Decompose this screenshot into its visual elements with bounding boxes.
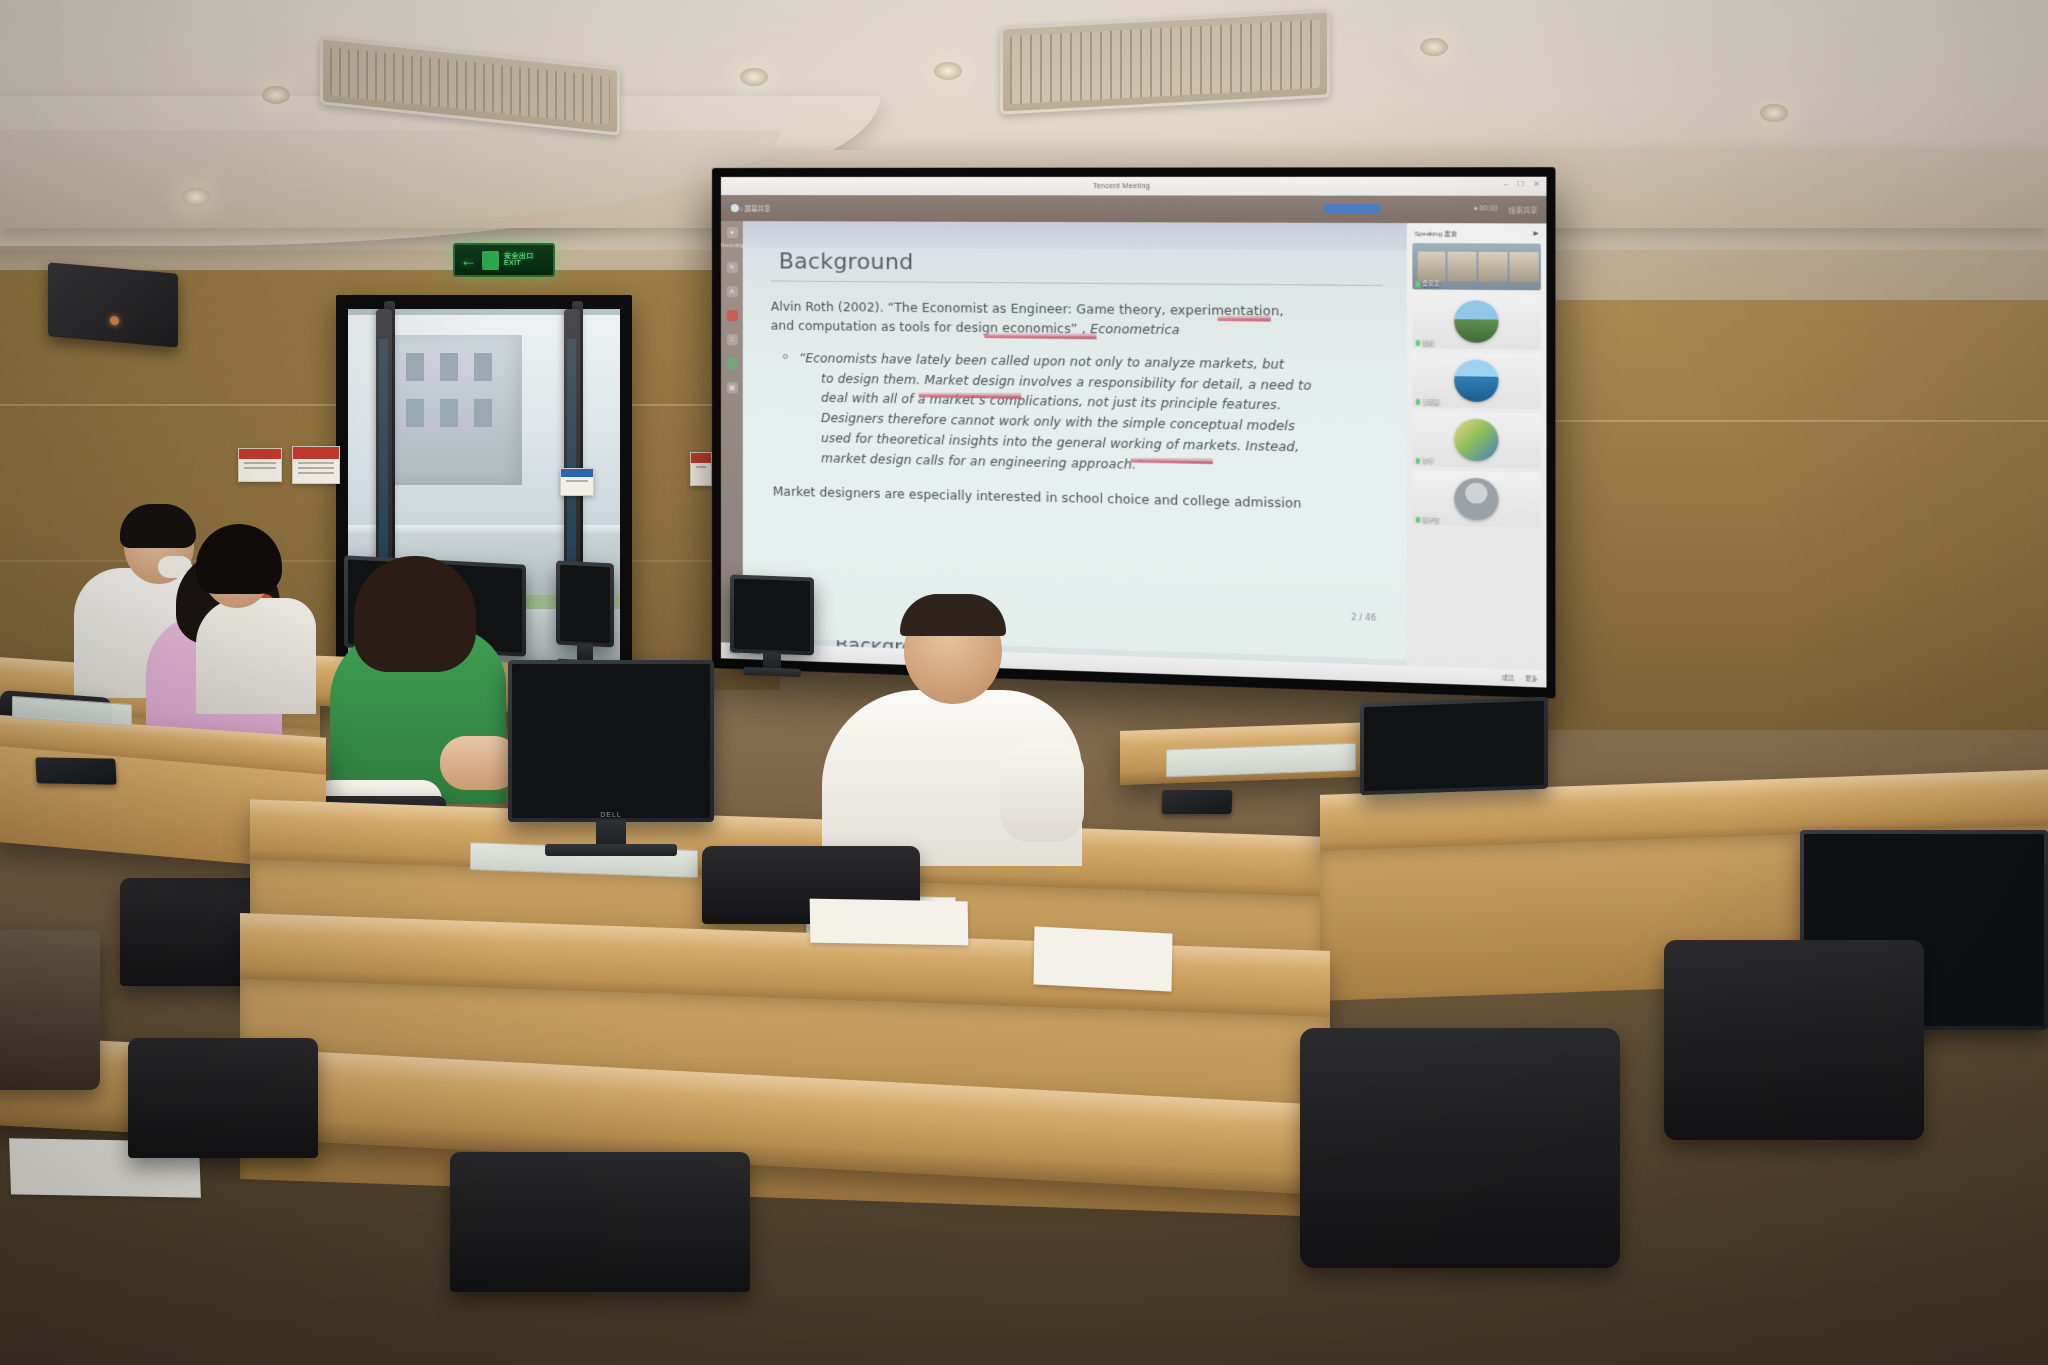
slide-title: Background	[779, 249, 1390, 278]
share-chip-label[interactable]: ⌂ 屏幕共享	[739, 203, 771, 213]
monitor-back-2	[556, 560, 614, 647]
avatar	[1454, 477, 1498, 520]
slide-top-strip	[743, 221, 1407, 250]
record-indicator-icon	[731, 204, 739, 212]
person-right-arm	[1000, 742, 1084, 842]
monitor-center-front: DELL	[508, 660, 714, 822]
highlighter-icon[interactable]: A	[726, 286, 737, 297]
participant-name: 李宇	[1416, 457, 1434, 465]
underline-design-economics	[984, 335, 1096, 339]
monitor-right-back	[1360, 697, 1548, 796]
mic-icon	[1416, 398, 1420, 404]
scene-root: ← 安全出口EXIT	[0, 0, 2048, 1365]
handout-paper-2	[1034, 926, 1173, 991]
downlight-1	[262, 86, 290, 104]
chair-front-right	[1300, 1028, 1620, 1268]
eraser-icon[interactable]	[726, 310, 737, 321]
exit-sign: ← 安全出口EXIT	[453, 243, 555, 277]
meeting-titlebar: Tencent Meeting – ☐ ✕	[721, 177, 1547, 196]
meeting-toolbar[interactable]: ⌂ 屏幕共享 ⏺ 00:00 结束共享	[721, 195, 1547, 223]
participant-name: 张帆	[1416, 339, 1434, 347]
wall-notice-1	[238, 448, 282, 482]
current-slide: Background Alvin Roth (2002). “The Econo…	[743, 221, 1407, 659]
maximize-icon[interactable]: ☐	[1517, 181, 1524, 188]
members-button[interactable]: 成员	[1502, 673, 1514, 682]
slide-icon[interactable]	[726, 358, 737, 369]
wall-wood-right	[1530, 300, 2048, 730]
downlight-4	[1420, 38, 1448, 56]
projection-screen: Tencent Meeting – ☐ ✕ ⌂ 屏幕共享 ⏺ 00:00 结束共…	[712, 167, 1555, 698]
title-divider	[771, 280, 1383, 286]
slide-bullet-block: “Economists have lately been called upon…	[799, 349, 1385, 481]
mic-icon	[1416, 280, 1420, 286]
participant-panel-header: Speaking 发言 ▶	[1412, 227, 1541, 239]
participant-tile[interactable]: 张帆	[1412, 294, 1541, 350]
pen-icon[interactable]: ✎	[726, 262, 737, 273]
wall-notice-4	[690, 452, 712, 486]
recording-label: Recording	[721, 243, 743, 249]
mic-icon	[1416, 339, 1420, 345]
exit-arrow-icon: ←	[460, 252, 477, 269]
participant-name: 王晓丽	[1416, 398, 1440, 406]
wall-speaker	[48, 262, 178, 347]
monitor-back-3	[730, 575, 814, 656]
chair-front-left	[128, 1038, 318, 1158]
smartphone-right	[1162, 790, 1233, 814]
monitor-brand-logo: DELL	[600, 812, 622, 819]
window-controls[interactable]: – ☐ ✕	[1504, 181, 1540, 188]
participant-name: 陈学生	[1416, 516, 1440, 524]
ac-vent-right	[1000, 9, 1330, 114]
slide-body: Alvin Roth (2002). “The Economist as Eng…	[771, 298, 1385, 516]
slide-page-number: 2 / 46	[1351, 613, 1376, 623]
outside-building	[394, 335, 522, 485]
downlight-5	[1760, 104, 1788, 122]
pointer-icon[interactable]: ●	[726, 227, 737, 238]
chair-right-edge	[1664, 940, 1924, 1140]
share-progress-bar	[1324, 204, 1381, 214]
downlight-3	[934, 62, 962, 80]
mic-icon	[1416, 516, 1420, 522]
slide-closing-line: Market designers are especially interest…	[773, 483, 1385, 516]
participant-tile[interactable]: 会议室	[1412, 243, 1541, 290]
slide-viewport[interactable]: Background Background Alvin Roth (2002).…	[743, 221, 1407, 683]
panel-collapse-icon[interactable]: ▶	[1533, 230, 1538, 237]
exit-sign-label: 安全出口EXIT	[504, 253, 534, 268]
downlight-6	[182, 188, 210, 206]
grid-icon[interactable]: ▦	[726, 382, 737, 393]
more-button[interactable]: 更多	[1525, 674, 1537, 683]
meeting-window: Tencent Meeting – ☐ ✕ ⌂ 屏幕共享 ⏺ 00:00 结束共…	[721, 177, 1547, 688]
avatar	[1454, 300, 1498, 343]
meeting-timer: ⏺ 00:00	[1474, 205, 1498, 214]
participant-panel[interactable]: Speaking 发言 ▶ 会议室	[1407, 223, 1547, 688]
participant-tile[interactable]: 王晓丽	[1412, 352, 1541, 409]
participant-name: 会议室	[1416, 280, 1440, 288]
mic-icon	[1416, 457, 1420, 463]
chair-front-mid	[450, 1152, 750, 1292]
close-icon[interactable]: ✕	[1533, 181, 1540, 188]
avatar	[1454, 418, 1498, 461]
handout-paper-1	[810, 899, 969, 946]
minimize-icon[interactable]: –	[1504, 181, 1508, 188]
wall-notice-3	[560, 468, 594, 496]
smartphone-left	[35, 757, 116, 784]
avatar	[1454, 359, 1498, 402]
stop-share-button[interactable]: 结束共享	[1509, 204, 1538, 215]
meeting-body: ● Recording ✎ A □ ▦ Background	[721, 221, 1547, 688]
running-man-icon	[482, 251, 499, 270]
chair-far-left	[0, 930, 100, 1090]
downlight-2	[740, 68, 768, 86]
participant-tile[interactable]: 李宇	[1412, 411, 1541, 468]
participant-tile[interactable]: 陈学生	[1412, 470, 1541, 528]
wall-notice-2	[292, 446, 340, 484]
speaking-label: Speaking 发言	[1415, 228, 1458, 238]
meeting-app-title: Tencent Meeting	[1093, 183, 1150, 190]
laser-icon[interactable]: □	[726, 334, 737, 345]
bullet-dot-icon	[783, 354, 788, 359]
